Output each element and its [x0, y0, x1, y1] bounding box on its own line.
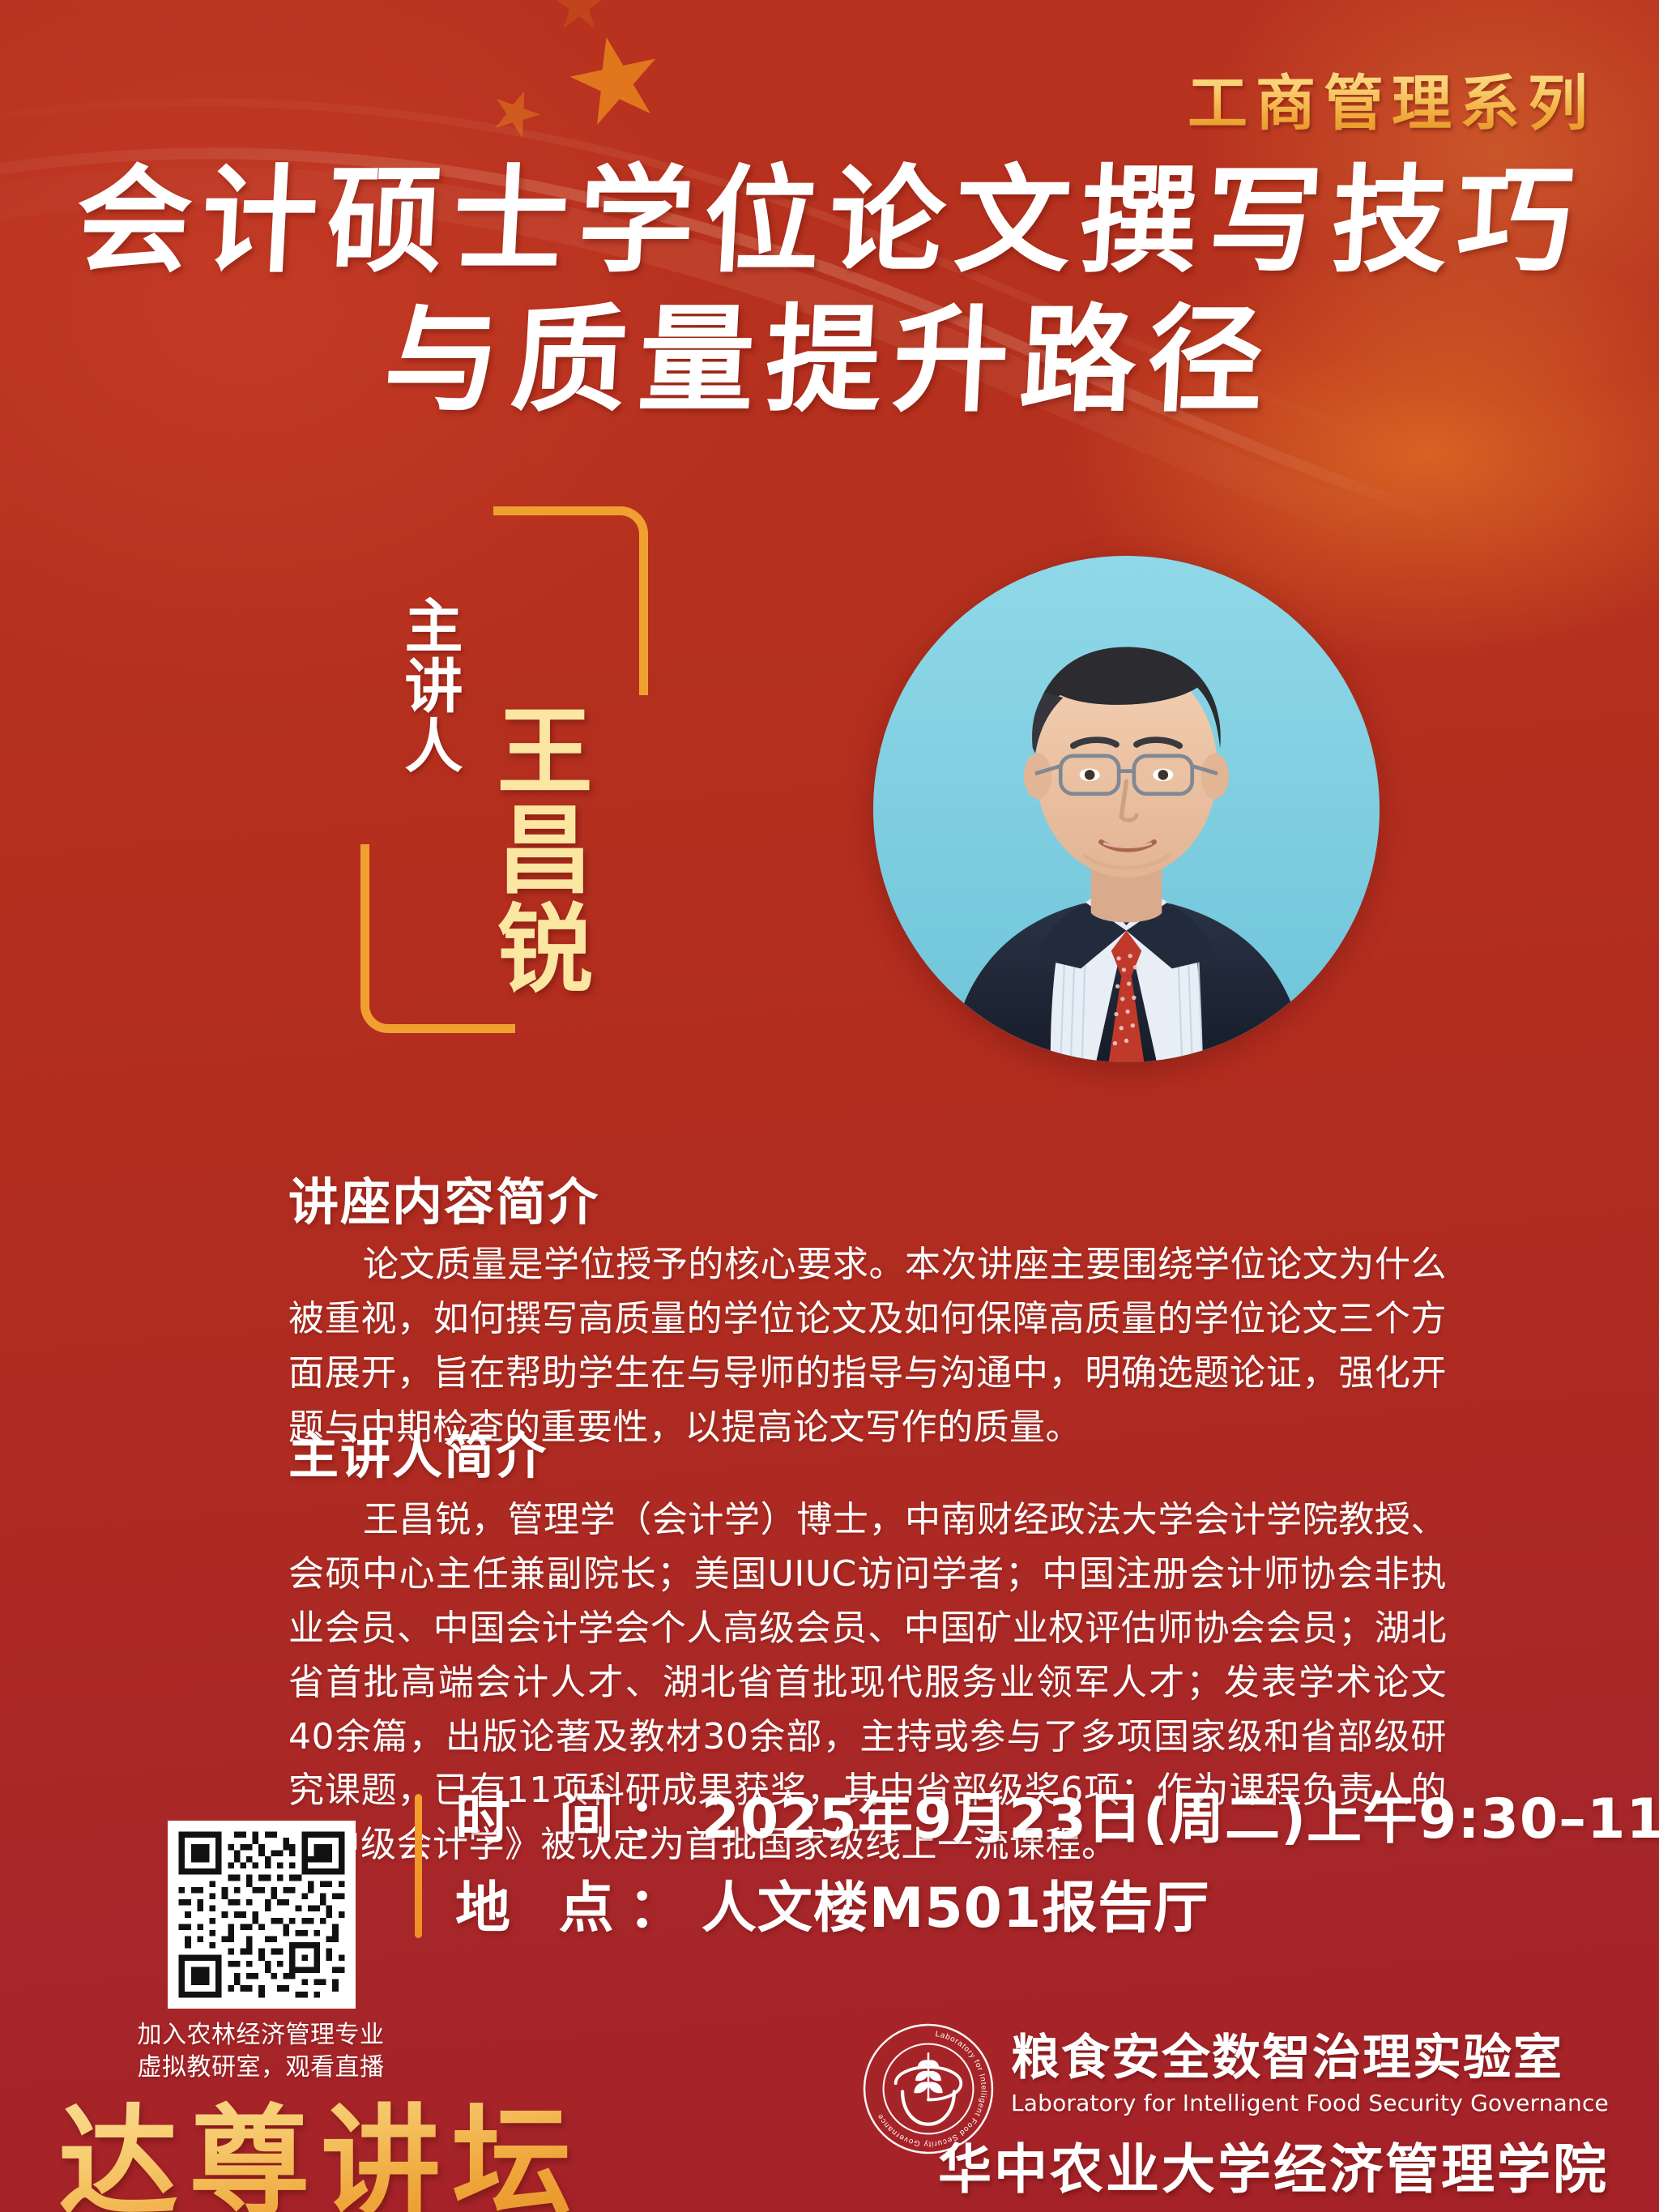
- speaker-portrait: [873, 556, 1380, 1062]
- event-place-value: 人文楼M501报告厅: [702, 1881, 1210, 1937]
- star-icon-small: [490, 88, 542, 139]
- event-place-label: 地 点：: [455, 1881, 698, 1937]
- series-tag: 工商管理系列: [1188, 55, 1596, 142]
- lab-text-block: 粮食安全数智治理实验室 Laboratory for Intelligent F…: [1011, 2024, 1609, 2116]
- section-heading-bio: 主讲人简介: [288, 1415, 548, 1488]
- forum-brand: 达尊讲坛: [58, 2065, 583, 2212]
- event-time-label: 时 间：: [455, 1792, 698, 1847]
- info-accent-bar: [415, 1794, 422, 1938]
- title-line-1: 会计硕士学位论文撰写技巧: [0, 152, 1659, 289]
- page-title: 会计硕士学位论文撰写技巧 与质量提升路径: [0, 152, 1659, 430]
- star-icon-tiny: [551, 0, 608, 34]
- star-icon: [567, 32, 664, 130]
- bracket-top-right-icon: [493, 506, 648, 695]
- section-heading-content: 讲座内容简介: [288, 1161, 599, 1234]
- title-line-2: 与质量提升路径: [0, 289, 1659, 430]
- event-time-row: 时 间： 2025年9月23日(周二)上午9:30–11:30: [455, 1792, 1508, 1847]
- event-time-value: 2025年9月23日(周二)上午9:30–11:30: [702, 1792, 1659, 1847]
- event-place-row: 地 点： 人文楼M501报告厅: [455, 1881, 1508, 1937]
- event-info: 时 间： 2025年9月23日(周二)上午9:30–11:30 地 点： 人文楼…: [455, 1792, 1508, 1971]
- lab-name-en: Laboratory for Intelligent Food Security…: [1011, 2090, 1609, 2116]
- speaker-label: 主讲人: [387, 596, 464, 775]
- college-name: 华中农业大学经济管理学院: [938, 2126, 1609, 2204]
- qr-code[interactable]: [168, 1821, 356, 2009]
- poster-root: 工商管理系列 会计硕士学位论文撰写技巧 与质量提升路径 主讲人 王昌锐: [0, 0, 1659, 2212]
- speaker-name: 王昌锐: [483, 701, 590, 997]
- qr-caption-line-1: 加入农林经济管理专业: [123, 2019, 399, 2052]
- lab-name-cn: 粮食安全数智治理实验室: [1011, 2032, 1609, 2085]
